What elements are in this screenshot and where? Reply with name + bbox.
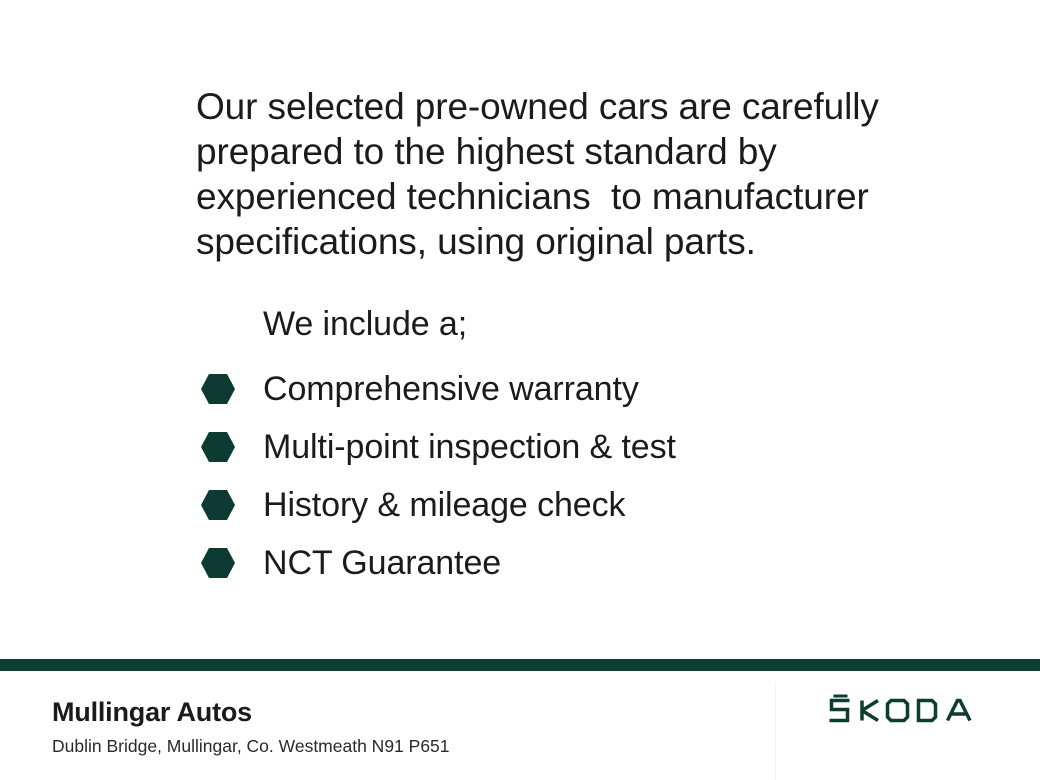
hexagon-bullet-icon xyxy=(200,547,236,579)
list-item-label: History & mileage check xyxy=(263,485,625,525)
list-item: NCT Guarantee xyxy=(200,534,900,592)
list-item-label: Multi-point inspection & test xyxy=(263,427,676,467)
footer-vertical-divider xyxy=(775,682,776,780)
promo-slide: Our selected pre-owned cars are carefull… xyxy=(0,0,1040,780)
list-item: Comprehensive warranty xyxy=(200,360,900,418)
list-item-label: NCT Guarantee xyxy=(263,543,501,583)
includes-list: Comprehensive warranty Multi-point inspe… xyxy=(200,360,900,592)
hexagon-bullet-icon xyxy=(200,373,236,405)
footer-accent-bar xyxy=(0,659,1040,671)
include-lead-in-text: We include a; xyxy=(263,303,467,345)
list-item-label: Comprehensive warranty xyxy=(263,369,639,409)
list-item: History & mileage check xyxy=(200,476,900,534)
hexagon-bullet-icon xyxy=(200,431,236,463)
list-item: Multi-point inspection & test xyxy=(200,418,900,476)
dealer-address: Dublin Bridge, Mullingar, Co. Westmeath … xyxy=(52,735,450,757)
hexagon-bullet-icon xyxy=(200,489,236,521)
headline-paragraph: Our selected pre-owned cars are carefull… xyxy=(196,84,896,264)
skoda-wordmark-logo xyxy=(826,694,988,728)
dealer-name: Mullingar Autos xyxy=(52,696,252,728)
